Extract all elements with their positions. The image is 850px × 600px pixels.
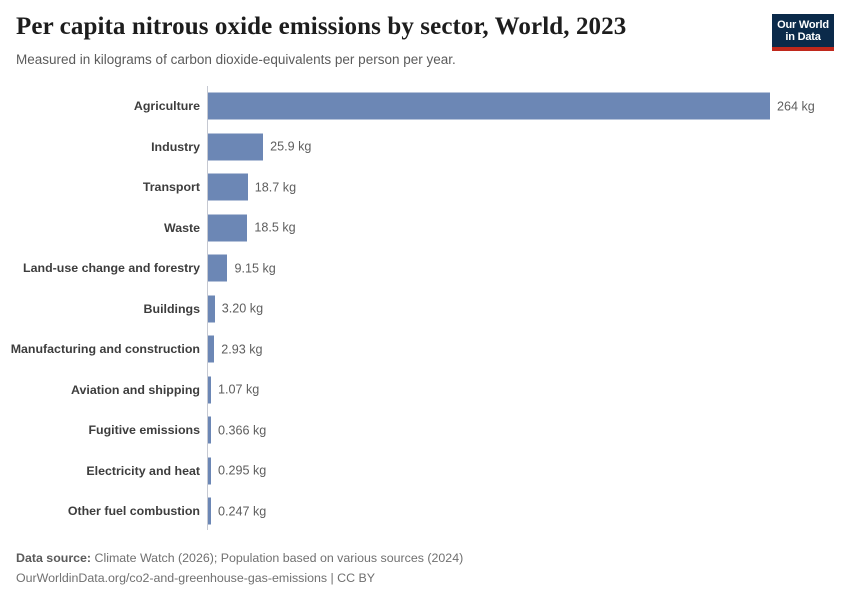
bar-label: Electricity and heat — [0, 464, 200, 478]
bar-label: Manufacturing and construction — [0, 342, 200, 356]
bar-value-label: 18.5 kg — [254, 221, 295, 235]
bar-fill[interactable] — [208, 255, 227, 282]
logo-line-2: in Data — [776, 31, 830, 43]
bar-label: Aviation and shipping — [0, 383, 200, 397]
bar-chart: Agriculture264 kgIndustry25.9 kgTranspor… — [0, 86, 850, 532]
bar-row[interactable]: Fugitive emissions0.366 kg — [0, 410, 850, 451]
bar-track: 18.5 kg — [208, 214, 850, 241]
bar-row[interactable]: Agriculture264 kg — [0, 86, 850, 127]
bar-fill[interactable] — [208, 174, 248, 201]
bar-track: 18.7 kg — [208, 174, 850, 201]
bar-fill[interactable] — [208, 376, 211, 403]
chart-footer: Data source: Climate Watch (2026); Popul… — [16, 548, 834, 588]
bar-row[interactable]: Transport18.7 kg — [0, 167, 850, 208]
bar-row[interactable]: Other fuel combustion0.247 kg — [0, 491, 850, 532]
data-source-label: Data source: — [16, 551, 91, 565]
our-world-in-data-logo[interactable]: Our World in Data — [772, 14, 834, 51]
bar-track: 3.20 kg — [208, 295, 850, 322]
bar-track: 25.9 kg — [208, 133, 850, 160]
bar-value-label: 9.15 kg — [234, 261, 275, 275]
bar-track: 0.295 kg — [208, 457, 850, 484]
bar-track: 2.93 kg — [208, 336, 850, 363]
bar-fill[interactable] — [208, 295, 215, 322]
bar-fill[interactable] — [208, 133, 263, 160]
bar-value-label: 0.295 kg — [218, 464, 266, 478]
chart-header: Per capita nitrous oxide emissions by se… — [0, 0, 850, 69]
bar-rows: Agriculture264 kgIndustry25.9 kgTranspor… — [0, 86, 850, 532]
license-line[interactable]: OurWorldinData.org/co2-and-greenhouse-ga… — [16, 568, 834, 588]
page-title: Per capita nitrous oxide emissions by se… — [16, 12, 834, 42]
bar-track: 264 kg — [208, 93, 850, 120]
chart-page: Per capita nitrous oxide emissions by se… — [0, 0, 850, 600]
bar-value-label: 0.247 kg — [218, 504, 266, 518]
bar-label: Buildings — [0, 302, 200, 316]
bar-label: Industry — [0, 140, 200, 154]
bar-row[interactable]: Buildings3.20 kg — [0, 289, 850, 330]
bar-label: Fugitive emissions — [0, 423, 200, 437]
chart-subtitle: Measured in kilograms of carbon dioxide-… — [16, 51, 834, 69]
bar-label: Agriculture — [0, 99, 200, 113]
bar-row[interactable]: Waste18.5 kg — [0, 208, 850, 249]
bar-fill[interactable] — [208, 457, 211, 484]
bar-value-label: 1.07 kg — [218, 383, 259, 397]
bar-value-label: 2.93 kg — [221, 342, 262, 356]
data-source-line: Data source: Climate Watch (2026); Popul… — [16, 548, 834, 568]
bar-value-label: 0.366 kg — [218, 423, 266, 437]
bar-track: 9.15 kg — [208, 255, 850, 282]
data-source-text: Climate Watch (2026); Population based o… — [91, 551, 463, 565]
bar-track: 0.247 kg — [208, 498, 850, 525]
bar-fill[interactable] — [208, 417, 211, 444]
bar-label: Land-use change and forestry — [0, 261, 200, 275]
bar-value-label: 3.20 kg — [222, 302, 263, 316]
bar-value-label: 25.9 kg — [270, 140, 311, 154]
bar-row[interactable]: Land-use change and forestry9.15 kg — [0, 248, 850, 289]
bar-label: Waste — [0, 221, 200, 235]
bar-value-label: 264 kg — [777, 99, 815, 113]
bar-track: 1.07 kg — [208, 376, 850, 403]
bar-label: Transport — [0, 180, 200, 194]
bar-fill[interactable] — [208, 498, 211, 525]
bar-row[interactable]: Manufacturing and construction2.93 kg — [0, 329, 850, 370]
bar-row[interactable]: Industry25.9 kg — [0, 127, 850, 168]
bar-label: Other fuel combustion — [0, 504, 200, 518]
bar-row[interactable]: Electricity and heat0.295 kg — [0, 451, 850, 492]
logo-line-1: Our World — [776, 19, 830, 31]
bar-value-label: 18.7 kg — [255, 180, 296, 194]
bar-fill[interactable] — [208, 214, 247, 241]
bar-row[interactable]: Aviation and shipping1.07 kg — [0, 370, 850, 411]
bar-fill[interactable] — [208, 93, 770, 120]
bar-fill[interactable] — [208, 336, 214, 363]
bar-track: 0.366 kg — [208, 417, 850, 444]
